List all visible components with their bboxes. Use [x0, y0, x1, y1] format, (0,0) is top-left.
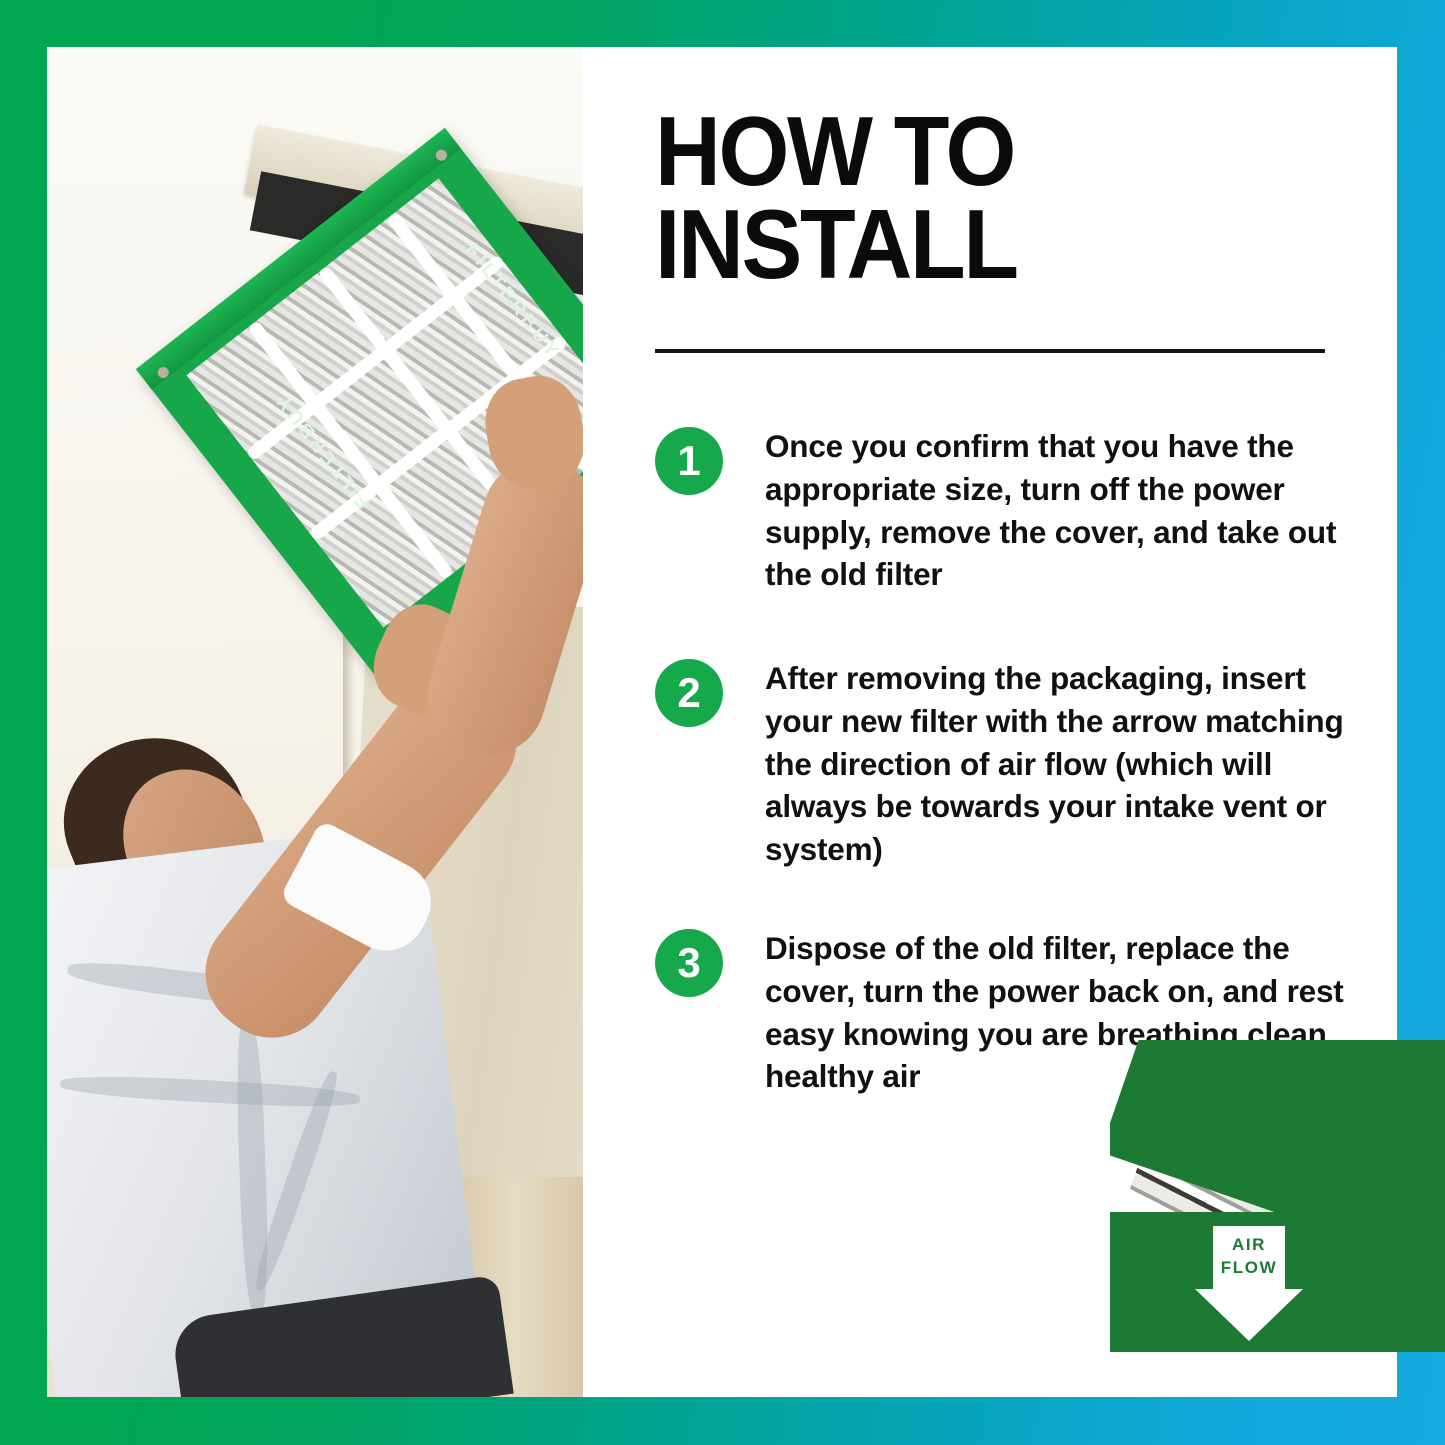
step-item-2: 2 After removing the packaging, insert y…: [655, 657, 1355, 871]
page-title: HOW TO INSTALL: [655, 105, 1306, 291]
product-filter-image: FILTERBUY AIR FLOW: [1110, 1040, 1445, 1352]
title-divider: [655, 349, 1325, 353]
page-title-line-1: HOW TO: [655, 105, 1306, 198]
air-flow-label: AIR FLOW: [1195, 1234, 1303, 1280]
air-flow-label-line-1: AIR: [1195, 1234, 1303, 1257]
page-title-line-2: INSTALL: [655, 198, 1306, 291]
air-flow-arrow-icon: AIR FLOW: [1195, 1226, 1303, 1342]
step-number-badge-3: 3: [655, 929, 723, 997]
step-text-2: After removing the packaging, insert you…: [765, 657, 1353, 871]
step-text-1: Once you confirm that you have the appro…: [765, 425, 1353, 596]
arrow-head: [1195, 1289, 1303, 1341]
step-number-badge-1: 1: [655, 427, 723, 495]
poster-root: FILTERBUY FILTERBUY HOW TO INST: [0, 0, 1445, 1445]
air-flow-label-line-2: FLOW: [1195, 1257, 1303, 1280]
step-item-1: 1 Once you confirm that you have the app…: [655, 425, 1355, 596]
step-number-badge-2: 2: [655, 659, 723, 727]
shirt-fold: [234, 1016, 270, 1317]
installation-photo: FILTERBUY FILTERBUY: [47, 47, 583, 1397]
